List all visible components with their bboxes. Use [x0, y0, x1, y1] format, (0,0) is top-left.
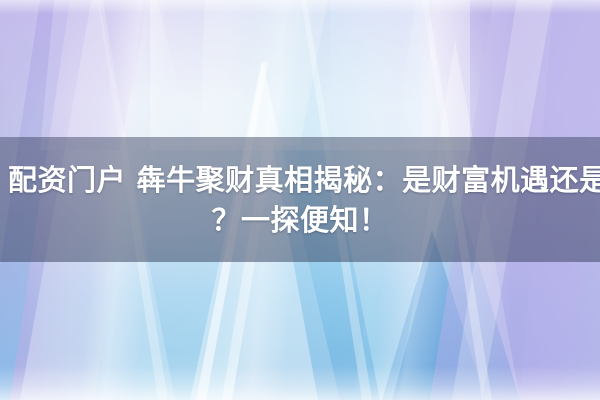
article-banner: 配资门户 犇牛聚财真相揭秘：是财富机遇还是骗局 ？一探便知！ [0, 0, 600, 400]
banner-headline: 配资门户 犇牛聚财真相揭秘：是财富机遇还是骗局 ？一探便知！ [0, 137, 600, 262]
bottom-fade-overlay [0, 366, 600, 400]
headline-line-1: 配资门户 犇牛聚财真相揭秘：是财富机遇还是骗局 [8, 160, 592, 200]
headline-line-2: ？一探便知！ [8, 200, 592, 240]
top-fade-overlay [0, 0, 600, 14]
